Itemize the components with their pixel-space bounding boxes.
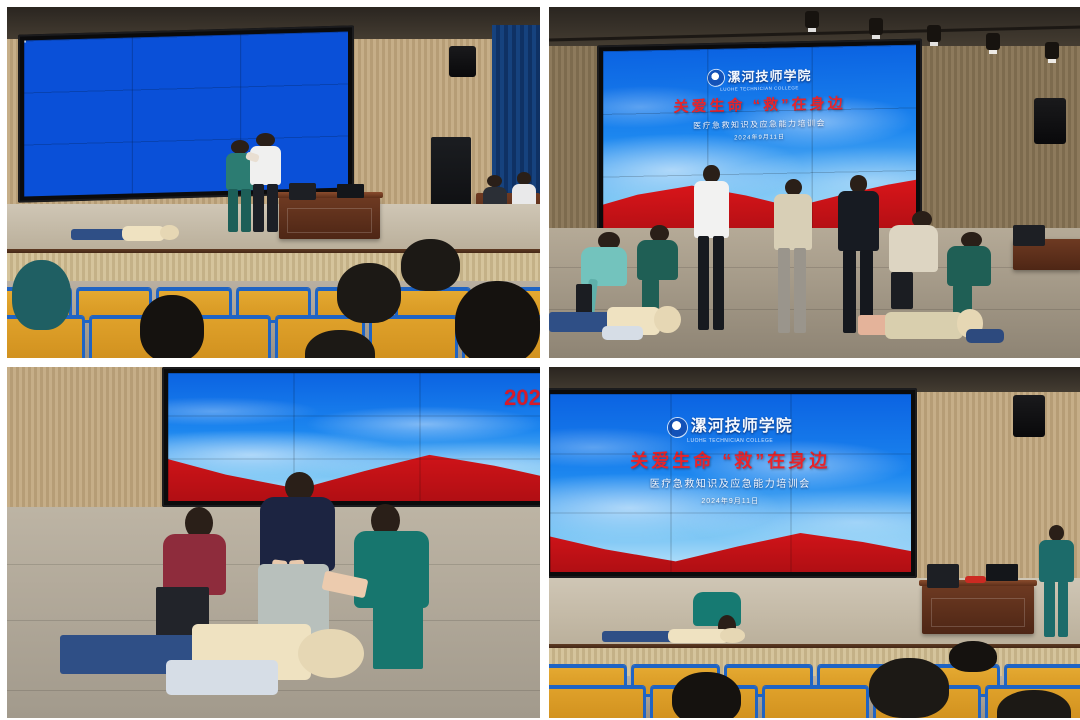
audience-head [672, 672, 741, 718]
standing-observer [773, 179, 813, 333]
track-light [927, 25, 941, 42]
track-light [986, 33, 1000, 50]
trainee-observer [634, 225, 687, 309]
trainee-observer [943, 232, 1002, 316]
training-manikin [858, 305, 1007, 344]
podium-laptop [986, 564, 1018, 582]
stage-apron [7, 253, 540, 281]
wall-speaker [1013, 395, 1045, 437]
training-manikin [549, 302, 688, 341]
wall-speaker [1034, 98, 1066, 144]
desk-nameplate [965, 576, 986, 583]
photo-collage: 漯河技师学院 LUOHE TECHNICIAN COLLEGE 关爱生命 “救”… [0, 0, 1080, 720]
screen-bezel-grid [550, 394, 911, 572]
auditorium-seat [369, 316, 458, 358]
audience-head [140, 295, 204, 358]
projection-screen [24, 31, 348, 197]
wall-speaker [449, 46, 476, 78]
audience-head [455, 281, 540, 358]
audience-head [869, 658, 949, 718]
podium-chair [1013, 225, 1045, 246]
podium-desk [279, 197, 380, 239]
standing-observer [693, 165, 730, 330]
photo-top-left[interactable] [7, 7, 540, 358]
photo-bottom-left[interactable]: 202 [7, 367, 540, 718]
podium-desk-panel [287, 208, 372, 232]
led-video-wall: 202 [168, 373, 540, 501]
auditorium-seat [762, 686, 870, 718]
podium-chair [927, 564, 959, 589]
projection-screen-frame [18, 25, 354, 203]
track-light [1045, 42, 1059, 59]
photo-top-right[interactable]: 漯河技师学院 LUOHE TECHNICIAN COLLEGE 关爱生命 “救”… [549, 7, 1080, 358]
led-video-wall: 漯河技师学院 LUOHE TECHNICIAN COLLEGE 关爱生命 “救”… [550, 394, 911, 572]
track-light [869, 18, 883, 35]
training-manikin [60, 620, 390, 697]
led-video-wall-frame: 漯河技师学院 LUOHE TECHNICIAN COLLEGE 关爱生命 “救”… [549, 388, 917, 578]
track-light [805, 11, 819, 28]
training-manikin [71, 223, 178, 244]
led-video-wall-frame: 202 [162, 367, 540, 507]
podium-laptop [337, 184, 364, 198]
screen-bezel-grid [168, 373, 540, 501]
audience-head [12, 260, 71, 330]
podium-desk-panel [931, 598, 1025, 627]
seated-attendee [511, 172, 538, 207]
staff-member-standing [1039, 525, 1074, 637]
audience-head [949, 641, 997, 673]
training-manikin [602, 627, 746, 646]
seated-attendee [481, 175, 508, 207]
podium-desk [922, 585, 1034, 634]
audience-head [401, 239, 460, 292]
photo-bottom-right[interactable]: 漯河技师学院 LUOHE TECHNICIAN COLLEGE 关爱生命 “救”… [549, 367, 1080, 718]
volunteer-participant [250, 133, 282, 231]
podium-chair [289, 183, 316, 201]
screen-bezel-grid [24, 31, 348, 197]
trainee-compressing [885, 211, 949, 309]
auditorium-seat [549, 686, 646, 718]
audience-head [337, 263, 401, 323]
